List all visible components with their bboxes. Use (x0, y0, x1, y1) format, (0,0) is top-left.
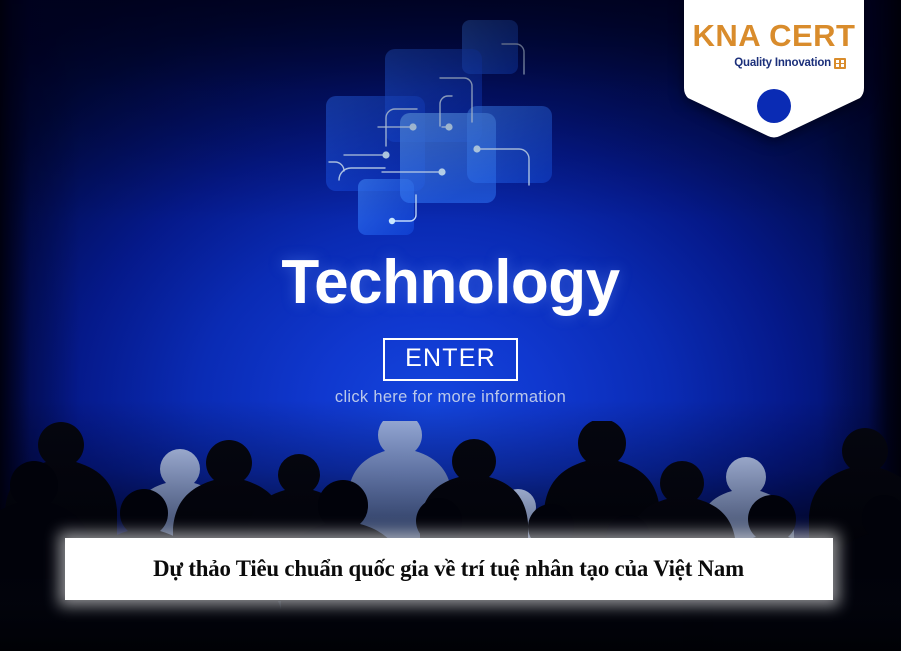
caption-text: Dự thảo Tiêu chuẩn quốc gia về trí tuệ n… (154, 556, 745, 583)
logo-tagline-text: Quality Innovation (734, 58, 831, 70)
slide-image: Technology ENTER click here for more inf… (0, 0, 901, 651)
logo-tagline-row: Quality Innovation (734, 58, 846, 70)
caption-bar: Dự thảo Tiêu chuẩn quốc gia về trí tuệ n… (65, 538, 833, 600)
kna-cert-logo: KNA CERT Quality Innovation (684, 0, 864, 140)
quality-innovation-badge-icon (834, 58, 846, 69)
logo-title: KNA CERT (684, 20, 864, 51)
